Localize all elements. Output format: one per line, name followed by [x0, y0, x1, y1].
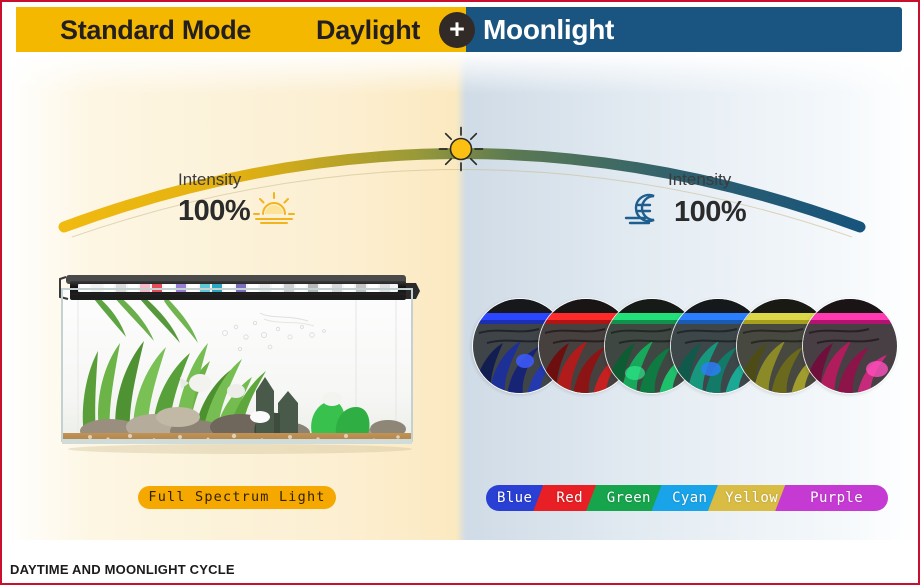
sunrise-icon: [252, 190, 298, 226]
daylight-intensity-block: Intensity 100%: [178, 170, 298, 228]
moonlight-intensity-block: Intensity 100%: [622, 170, 746, 229]
color-segment-label: Yellow: [725, 490, 778, 506]
color-segment-green[interactable]: Green: [586, 485, 661, 511]
color-segment-red[interactable]: Red: [533, 485, 596, 511]
color-segment-purple[interactable]: Purple Light: [775, 485, 888, 511]
aquarium-photo: [50, 257, 435, 457]
full-spectrum-badge: Full Spectrum Light: [138, 486, 336, 509]
circle-purple-scene: [802, 298, 898, 394]
moon-wave-icon: [622, 190, 666, 228]
infographic-page: Standard Mode Daylight + Moonlight: [0, 0, 920, 585]
header-moonlight-label: Moonlight: [483, 14, 614, 46]
color-segment-label: Purple Light: [810, 490, 863, 511]
header-daylight-label: Daylight: [316, 15, 420, 46]
moonlight-intensity-value: 100%: [674, 195, 746, 229]
color-scene-circles: [472, 298, 892, 398]
daylight-intensity-value: 100%: [178, 194, 250, 228]
moonlight-intensity-label: Intensity: [668, 170, 746, 190]
color-segment-blue[interactable]: Blue: [486, 485, 543, 511]
color-segment-cyan[interactable]: Cyan: [652, 485, 718, 511]
color-segment-label: Red: [556, 490, 583, 506]
plus-icon: +: [439, 12, 475, 48]
mode-header-bar: Standard Mode Daylight + Moonlight: [16, 7, 902, 52]
color-mode-bar: Blue Red Green Cyan Yellow Purple Light: [486, 485, 888, 511]
page-caption: DAYTIME AND MOONLIGHT CYCLE: [10, 562, 235, 577]
color-segment-label: Cyan: [672, 490, 707, 506]
color-segment-yellow[interactable]: Yellow: [708, 485, 785, 511]
led-light-bar: [60, 275, 420, 300]
header-standard-mode-label: Standard Mode: [60, 15, 251, 46]
color-segment-label: Green: [607, 490, 651, 506]
daylight-intensity-label: Intensity: [178, 170, 298, 190]
color-segment-label: Blue: [497, 490, 532, 506]
